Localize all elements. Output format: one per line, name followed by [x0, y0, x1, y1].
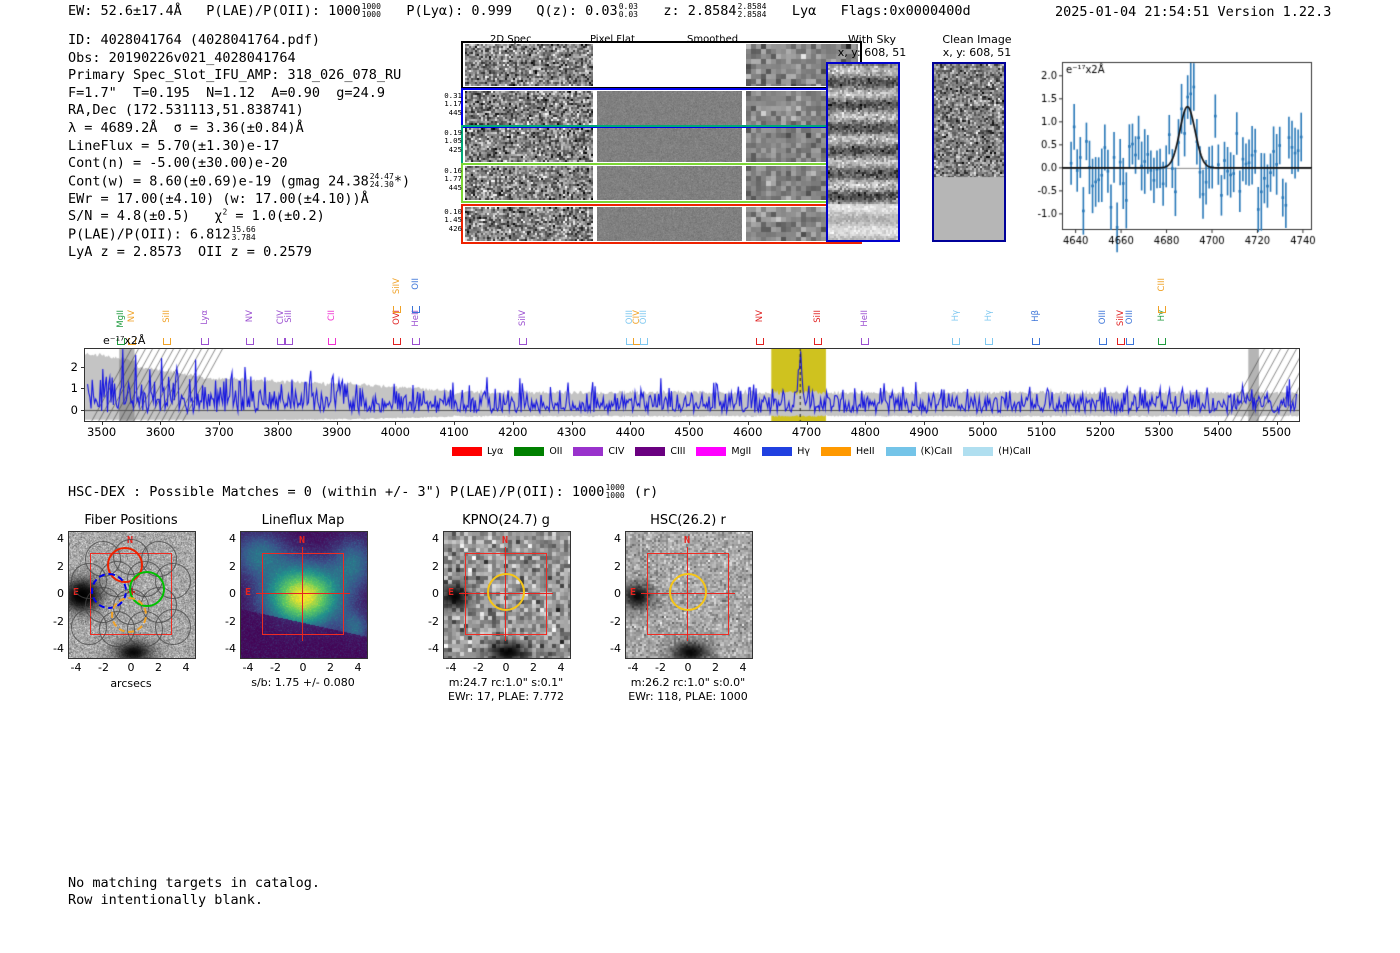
mainspec-xtick: 3500 [87, 425, 116, 439]
info-cont-n: Cont(n) = -5.00(±30.00)e-20 [68, 155, 410, 173]
mainspec-xtick-mark [807, 422, 808, 425]
mainspec-xtick-mark [160, 422, 161, 425]
aperture-circle [487, 573, 525, 611]
cutout-xtick: 4 [355, 661, 362, 674]
footer-note: No matching targets in catalog. Row inte… [68, 875, 320, 909]
info-gmag-range: 24.4724.30 [370, 173, 394, 190]
spec2d-image [465, 207, 593, 241]
emission-line-bracket [952, 338, 960, 345]
emission-line-bracket [163, 338, 171, 345]
header-flags: Flags:0x0000400d [841, 3, 971, 19]
mainspec-xtick: 4400 [616, 425, 645, 439]
emission-line-label: NV [245, 310, 255, 322]
mainspec-xtick: 3800 [263, 425, 292, 439]
emission-line-bracket [519, 338, 527, 345]
emission-line-bracket [1126, 338, 1134, 345]
legend-item: OII [514, 446, 562, 457]
mainspec-xtick: 5400 [1203, 425, 1232, 439]
info-snr: S/N = 4.8(±0.5) χ2 = 1.0(±0.2) [68, 208, 410, 226]
mainspec-xtick-mark [572, 422, 573, 425]
emission-line-label: OII [411, 278, 421, 290]
mainspec-xtick-mark [337, 422, 338, 425]
cutout-ytick: -4 [423, 642, 439, 655]
mainspec-xtick-mark [513, 422, 514, 425]
cutout-ytick: 0 [605, 587, 621, 600]
weighted-2dspec-image [465, 44, 593, 86]
info-obs: Obs: 20190226v021_4028041764 [68, 50, 410, 68]
hscdex-plae-range: 10001000 [605, 484, 624, 500]
emission-line-label: HeII [860, 310, 870, 327]
emission-line-label: SiIV [518, 310, 528, 326]
header-summary: EW: 52.6±17.4Å P(LAE)/P(OII): 1000100010… [68, 3, 971, 19]
spec2d-row-stat: 445 [428, 184, 462, 192]
legend-item: HeII [821, 446, 875, 457]
emission-line-label: Hγ [951, 310, 961, 321]
mainspec-xtick-mark [1100, 422, 1101, 425]
legend-swatch [573, 447, 603, 456]
emission-line-label: CII [327, 310, 337, 321]
header-plae-label: P(LAE)/P(OII): 1000 [206, 3, 360, 19]
cutout-ytick: 2 [48, 560, 64, 573]
info-slot: Primary Spec_Slot_IFU_AMP: 318_026_078_R… [68, 67, 410, 85]
legend-label: CIV [608, 446, 624, 457]
cutout-ytick: -2 [220, 615, 236, 628]
cutout-ytick: 0 [423, 587, 439, 600]
mainspec-xtick-mark [278, 422, 279, 425]
footer-line-2: Row intentionally blank. [68, 892, 320, 909]
emission-line-bracket [985, 338, 993, 345]
cutout-xtick: 2 [155, 661, 162, 674]
cutout-xtick: -4 [628, 661, 639, 674]
legend-label: Lyα [487, 446, 503, 457]
mainspec-xtick-mark [865, 422, 866, 425]
cutout-title: HSC(26.2) r [595, 513, 781, 528]
legend-swatch [821, 447, 851, 456]
cutout-xlabel: arcsecs [48, 677, 214, 691]
cutout-xtick: -4 [243, 661, 254, 674]
mainspec-xtick-mark [1277, 422, 1278, 425]
mainspec-xtick: 4900 [909, 425, 938, 439]
legend-label: MgII [731, 446, 751, 457]
emission-line-label: SiII [162, 310, 172, 323]
emission-line-bracket [756, 338, 764, 345]
detection-info-block: ID: 4028041764 (4028041764.pdf) Obs: 201… [68, 32, 410, 262]
header-qz-label: Q(z): 0.03 [536, 3, 617, 19]
mainspec-xtick: 3900 [322, 425, 351, 439]
footer-line-1: No matching targets in catalog. [68, 875, 320, 892]
spec2d-row-stat: 445 [428, 109, 462, 117]
header-plae-range: 10001000 [362, 3, 381, 19]
pixelflat-image [597, 207, 742, 241]
cutout-xtick: -4 [71, 661, 82, 674]
cutout-ytick: -4 [48, 642, 64, 655]
cutout-xtick: -2 [270, 661, 281, 674]
legend-item: CIV [573, 446, 624, 457]
emission-line-bracket [393, 306, 401, 313]
legend-label: Hγ [797, 446, 810, 457]
emission-line-label: Lyα [200, 310, 210, 325]
emission-line-bracket [1158, 306, 1166, 313]
pixelflat-image [597, 166, 742, 200]
emission-line-bracket [246, 338, 254, 345]
timestamp-version: 2025-01-04 21:54:51 Version 1.22.3 [1055, 4, 1331, 20]
cutout-caption: s/b: 1.75 +/- 0.080 [206, 676, 400, 690]
mainspec-xtick: 4200 [498, 425, 527, 439]
emission-line-label: SiII [813, 310, 823, 323]
clean-image-title: Clean Image x, y: 608, 51 [922, 33, 1032, 59]
north-marker: N [299, 535, 305, 546]
cutout-ytick: 2 [423, 560, 439, 573]
cutout-xtick: 0 [128, 661, 135, 674]
spec2d-row-left-stats: 0.101.45426 [428, 208, 462, 233]
spec2d-row-stat: 426 [428, 225, 462, 233]
emission-line-bracket [640, 338, 648, 345]
emission-line-bracket [412, 338, 420, 345]
mainspec-xtick-mark [395, 422, 396, 425]
emission-line-bracket [328, 338, 336, 345]
legend-label: HeII [856, 446, 875, 457]
mainspec-xtick: 5200 [1086, 425, 1115, 439]
info-plae: P(LAE)/P(OII): 6.81215.663.784 [68, 226, 410, 244]
emission-line-bracket [1032, 338, 1040, 345]
cutout-xtick: -2 [98, 661, 109, 674]
cutout-title: Fiber Positions [38, 513, 224, 528]
emission-line-bracket [412, 306, 420, 313]
mainspec-xtick-mark [219, 422, 220, 425]
fiber-circle [155, 609, 191, 645]
east-marker: E [245, 587, 251, 598]
mainspec-xtick: 4800 [851, 425, 880, 439]
spec2d-image [465, 91, 593, 125]
mainspec-xtick-mark [454, 422, 455, 425]
cutout-ytick: -4 [605, 642, 621, 655]
cutout-xtick: 4 [183, 661, 190, 674]
mainspec-xtick: 3600 [146, 425, 175, 439]
cutout-title: Lineflux Map [210, 513, 396, 528]
emission-line-bracket [277, 338, 285, 345]
mainspec-xtick: 4100 [439, 425, 468, 439]
legend-swatch [886, 447, 916, 456]
cutout-xtick: 4 [558, 661, 565, 674]
header-z-label: z: 2.8584 [663, 3, 736, 19]
emission-line-bracket [814, 338, 822, 345]
crosshair-gap [288, 579, 318, 609]
mainspec-xtick-mark [924, 422, 925, 425]
emission-line-bracket [1117, 338, 1125, 345]
emission-line-bracket [861, 338, 869, 345]
cutout-xtick: 0 [503, 661, 510, 674]
cutout-caption: m:24.7 rc:1.0" s:0.1" [409, 676, 603, 690]
legend-label: OII [549, 446, 562, 457]
legend-item: (K)CaII [886, 446, 953, 457]
mainspec-xtick-mark [983, 422, 984, 425]
cutout-xtick: 2 [712, 661, 719, 674]
header-ew: EW: 52.6±17.4Å [68, 3, 182, 19]
mainspec-ytick: 1 [62, 381, 78, 395]
cutout-ytick: 4 [605, 532, 621, 545]
spec2d-row-left-stats: 0.311.17445 [428, 92, 462, 117]
mainspec-xtick: 3700 [204, 425, 233, 439]
fiber-circle-highlighted [111, 597, 147, 633]
clean-image-cutout [932, 62, 1006, 242]
legend-item: Hγ [762, 446, 810, 457]
north-marker: N [684, 535, 690, 546]
mainspec-xtick: 5100 [1027, 425, 1056, 439]
info-redshifts: LyA z = 2.8573 OII z = 0.2579 [68, 244, 410, 262]
cutout-ytick: -2 [423, 615, 439, 628]
info-lineflux: LineFlux = 5.70(±1.30)e-17 [68, 138, 410, 156]
mainspec-xtick: 4600 [733, 425, 762, 439]
cutout-caption: EWr: 17, PLAE: 7.772 [409, 690, 603, 704]
emission-line-label: OIII [639, 310, 649, 324]
mainspec-xtick: 5500 [1262, 425, 1291, 439]
info-radec: RA,Dec (172.531113,51.838741) [68, 102, 410, 120]
mainspec-xtick-mark [1042, 422, 1043, 425]
header-z-line: Lyα [792, 3, 816, 19]
cutout-title: KPNO(24.7) g [413, 513, 599, 528]
pixelflat-image [597, 91, 742, 125]
with-sky-cutout [826, 62, 900, 242]
east-marker: E [448, 587, 454, 598]
cutout-ytick: 4 [48, 532, 64, 545]
emission-line-bracket [201, 338, 209, 345]
main-spectrum-canvas [84, 348, 1300, 422]
cutout-ytick: 2 [220, 560, 236, 573]
cutout-xtick: 0 [685, 661, 692, 674]
mainspec-xtick: 4500 [674, 425, 703, 439]
cutout-ytick: 2 [605, 560, 621, 573]
cutout-ytick: 4 [423, 532, 439, 545]
mainspec-xtick-mark [1159, 422, 1160, 425]
cutout-ytick: 0 [220, 587, 236, 600]
cutout-xtick: -4 [446, 661, 457, 674]
emission-line-bracket [1099, 338, 1107, 345]
header-z-range: 2.85842.8584 [738, 3, 767, 19]
legend-label: (H)CaII [998, 446, 1031, 457]
mainspec-ytick-mark [81, 388, 84, 389]
emission-line-label: OIII [1125, 310, 1135, 324]
emission-line-label: SiII [284, 310, 294, 323]
spec2d-image [465, 128, 593, 162]
info-plae-range: 15.663.784 [232, 226, 256, 243]
emission-line-bracket [285, 338, 293, 345]
emission-line-profile-plot [1030, 48, 1320, 258]
emission-line-label: SiIV [392, 278, 402, 294]
emission-line-label: NV [755, 310, 765, 322]
cutout-xtick: 2 [327, 661, 334, 674]
mainspec-xtick-mark [748, 422, 749, 425]
legend-label: (K)CaII [921, 446, 953, 457]
info-cont-w: Cont(w) = 8.60(±0.69)e-19 (gmag 24.3824.… [68, 173, 410, 191]
spectrum-legend: LyαOIICIVCIIIMgIIHγHeII(K)CaII(H)CaII [452, 446, 1042, 457]
emission-line-label: Hγ [984, 310, 994, 321]
info-fwhm: F=1.7" T=0.195 N=1.12 A=0.90 g=24.9 [68, 85, 410, 103]
cutout-ytick: 0 [48, 587, 64, 600]
legend-item: Lyα [452, 446, 503, 457]
cutout-ytick: -2 [48, 615, 64, 628]
spec2d-row-stat: 425 [428, 146, 462, 154]
header-plya: P(Lyα): 0.999 [406, 3, 512, 19]
spec2d-row-left-stats: 0.191.05425 [428, 129, 462, 154]
emission-line-label: Hβ [1031, 310, 1041, 322]
cutout-xtick: -2 [655, 661, 666, 674]
header-qz-range: 0.030.03 [619, 3, 638, 19]
cutout-caption: m:26.2 rc:1.0" s:0.0" [591, 676, 785, 690]
legend-swatch [452, 447, 482, 456]
emission-line-label: NV [127, 310, 137, 322]
pixelflat-image [597, 128, 742, 162]
cutout-xtick: 4 [740, 661, 747, 674]
mainspec-ytick: 0 [62, 403, 78, 417]
mainspec-xtick: 4300 [557, 425, 586, 439]
mainspec-xtick-mark [102, 422, 103, 425]
hscdex-summary: HSC-DEX : Possible Matches = 0 (within +… [68, 484, 658, 500]
cutout-caption: EWr: 118, PLAE: 1000 [591, 690, 785, 704]
legend-swatch [963, 447, 993, 456]
emission-line-bracket [1158, 338, 1166, 345]
with-sky-title: With Sky x, y: 608, 51 [822, 33, 922, 59]
mainspec-xtick: 5000 [968, 425, 997, 439]
legend-item: (H)CaII [963, 446, 1031, 457]
emission-line-label: CIII [1157, 278, 1167, 291]
legend-swatch [514, 447, 544, 456]
info-ewr: EWr = 17.00(±4.10) (w: 17.00(±4.10))Å [68, 191, 410, 209]
legend-item: MgII [696, 446, 751, 457]
cutout-xtick: 0 [300, 661, 307, 674]
mainspec-ytick: 2 [62, 360, 78, 374]
info-lambda: λ = 4689.2Å σ = 3.36(±0.84)Å [68, 120, 410, 138]
info-id: ID: 4028041764 (4028041764.pdf) [68, 32, 410, 50]
cutout-xtick: -2 [473, 661, 484, 674]
legend-item: CIII [635, 446, 685, 457]
north-marker: N [502, 535, 508, 546]
legend-label: CIII [670, 446, 685, 457]
emission-line-label: OIII [1098, 310, 1108, 324]
cutout-xtick: 2 [530, 661, 537, 674]
legend-swatch [762, 447, 792, 456]
mainspec-xtick: 5300 [1144, 425, 1173, 439]
mainspec-ytick-mark [81, 367, 84, 368]
legend-swatch [635, 447, 665, 456]
emission-line-label: MgII [116, 310, 126, 328]
mainspec-xtick: 4000 [381, 425, 410, 439]
mainspec-xtick-mark [689, 422, 690, 425]
legend-swatch [696, 447, 726, 456]
emission-line-bracket [393, 338, 401, 345]
spec2d-image [465, 166, 593, 200]
east-marker: E [630, 587, 636, 598]
mainspec-unit-label: e⁻¹⁷x2Å [103, 334, 145, 347]
mainspec-xtick-mark [1218, 422, 1219, 425]
mainspec-xtick: 4700 [792, 425, 821, 439]
spec2d-row-left-stats: 0.161.77445 [428, 167, 462, 192]
cutout-ytick: 4 [220, 532, 236, 545]
mainspec-xtick-mark [630, 422, 631, 425]
aperture-circle [669, 573, 707, 611]
cutout-ytick: -2 [605, 615, 621, 628]
mainspec-ytick-mark [81, 410, 84, 411]
cutout-ytick: -4 [220, 642, 236, 655]
